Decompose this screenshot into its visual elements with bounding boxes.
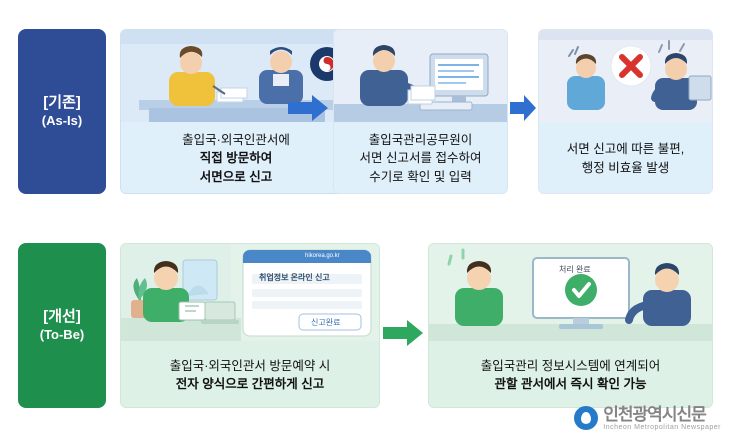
panel-to-be-online-report: hikorea.go.kr 취업정보 온라인 신고 신고완료 출입국·외국인관서… — [120, 243, 380, 408]
screen-submit-done-label: 신고완료 — [311, 317, 340, 328]
caption-as-is-inefficiency-line2: 행정 비효율 발생 — [582, 159, 669, 177]
caption-as-is-manual-entry-line2: 서면 신고서를 접수하여 — [360, 149, 482, 167]
illustration-inefficiency-svg — [539, 30, 712, 122]
row-label-as-is-line2: (As-Is) — [42, 113, 82, 129]
screen-url-label: hikorea.go.kr — [305, 253, 340, 259]
arrow-as-is-1-icon — [288, 95, 328, 121]
illustration-manual-entry — [334, 30, 507, 122]
watermark-text: 인천광역시신문 Incheon Metropolitan Newspaper — [603, 406, 721, 431]
watermark-english: Incheon Metropolitan Newspaper — [603, 424, 721, 431]
screen-status-label: 처리 완료 — [559, 264, 591, 275]
row-label-as-is: [기존] (As-Is) — [18, 29, 106, 194]
caption-as-is-inefficiency-line1: 서면 신고에 따른 불편, — [567, 140, 684, 158]
row-label-to-be-line1: [개선] — [43, 308, 81, 327]
caption-as-is-visit-line1: 출입국·외국인관서에 — [182, 131, 290, 149]
arrow-as-is-1 — [288, 95, 328, 126]
row-label-to-be: [개선] (To-Be) — [18, 243, 106, 408]
caption-as-is-visit-line2: 직접 방문하여 — [200, 149, 272, 167]
watermark: 인천광역시신문 Incheon Metropolitan Newspaper — [574, 406, 721, 431]
illustration-online-report: hikorea.go.kr 취업정보 온라인 신고 신고완료 — [121, 244, 379, 341]
caption-to-be-system-linked-line1: 출입국관리 정보시스템에 연계되어 — [481, 357, 660, 375]
illustration-manual-entry-svg — [334, 30, 507, 122]
caption-as-is-manual-entry-line3: 수기로 확인 및 입력 — [369, 168, 471, 186]
watermark-logo-icon — [574, 406, 598, 430]
arrow-as-is-2 — [510, 95, 536, 126]
caption-as-is-manual-entry-line1: 출입국관리공무원이 — [369, 131, 473, 149]
arrow-to-be-1-icon — [383, 320, 423, 346]
caption-as-is-visit-line3: 서면으로 신고 — [200, 168, 272, 186]
caption-as-is-visit: 출입국·외국인관서에 직접 방문하여 서면으로 신고 — [121, 122, 351, 194]
caption-as-is-inefficiency: 서면 신고에 따른 불편, 행정 비효율 발생 — [539, 122, 712, 194]
screen-title-label: 취업정보 온라인 신고 — [259, 272, 330, 283]
caption-to-be-online-report-line1: 출입국·외국인관서 방문예약 시 — [170, 357, 331, 375]
row-label-to-be-line2: (To-Be) — [40, 327, 85, 343]
arrow-to-be-1 — [383, 320, 423, 351]
illustration-system-linked-svg — [429, 244, 712, 341]
caption-to-be-online-report-line2: 전자 양식으로 간편하게 신고 — [176, 375, 324, 393]
caption-to-be-online-report: 출입국·외국인관서 방문예약 시 전자 양식으로 간편하게 신고 — [121, 341, 379, 408]
caption-to-be-system-linked: 출입국관리 정보시스템에 연계되어 관할 관서에서 즉시 확인 가능 — [429, 341, 712, 408]
panel-to-be-system-linked: 처리 완료 출입국관리 정보시스템에 연계되어 관할 관서에서 즉시 확인 가능 — [428, 243, 713, 408]
arrow-as-is-2-icon — [510, 95, 536, 121]
diagram-canvas: [기존] (As-Is) — [0, 0, 731, 437]
panel-as-is-manual-entry: 출입국관리공무원이 서면 신고서를 접수하여 수기로 확인 및 입력 — [333, 29, 508, 194]
watermark-korean: 인천광역시신문 — [603, 406, 721, 424]
caption-as-is-manual-entry: 출입국관리공무원이 서면 신고서를 접수하여 수기로 확인 및 입력 — [334, 122, 507, 194]
panel-as-is-inefficiency: 서면 신고에 따른 불편, 행정 비효율 발생 — [538, 29, 713, 194]
caption-to-be-system-linked-line2: 관할 관서에서 즉시 확인 가능 — [495, 375, 647, 393]
illustration-inefficiency — [539, 30, 712, 122]
row-label-as-is-line1: [기존] — [43, 94, 81, 113]
illustration-system-linked: 처리 완료 — [429, 244, 712, 341]
